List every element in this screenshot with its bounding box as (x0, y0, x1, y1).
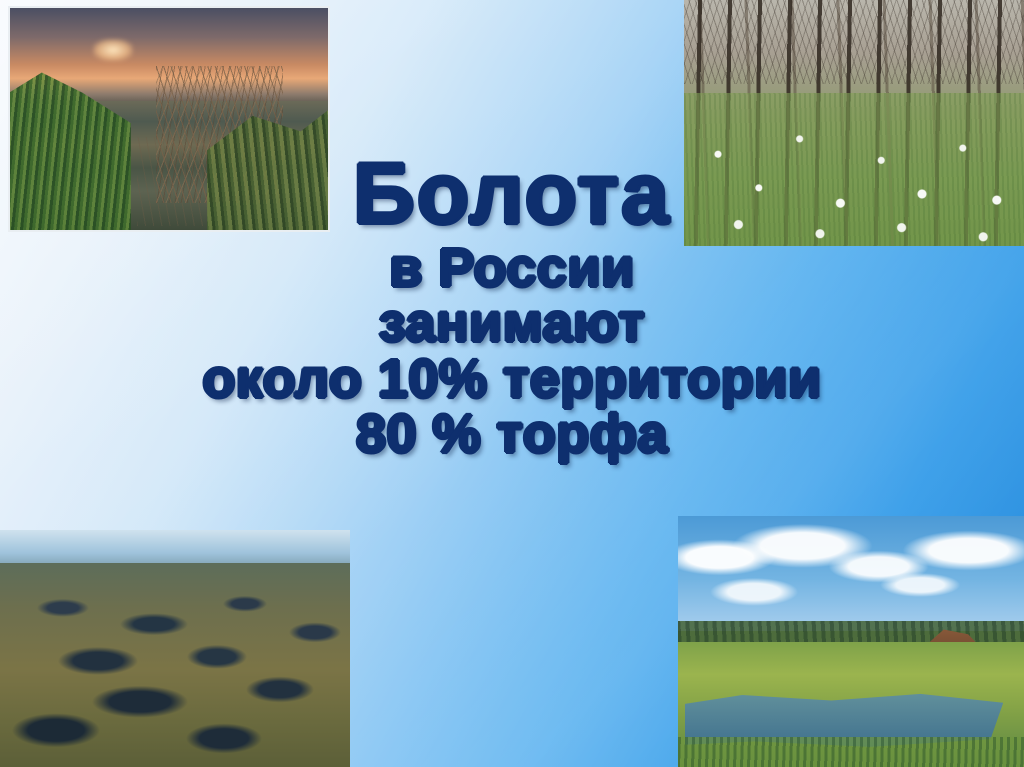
title-line-3: занимают (0, 296, 1024, 352)
title-line-4: около 10% территории (0, 352, 1024, 408)
foreground-grass (678, 737, 1024, 767)
image-tundra-bog (0, 530, 350, 767)
title-line-1: Болота (0, 150, 1024, 239)
sun-glow (93, 39, 133, 61)
title-line-2: в России (0, 241, 1024, 297)
title-line-5: 80 % торфа (0, 407, 1024, 463)
cumulus-clouds (678, 516, 1024, 631)
slide-title: Болота в России занимают около 10% терри… (0, 150, 1024, 463)
bare-branches (684, 0, 1024, 84)
bog-lakes (0, 563, 350, 767)
presentation-slide: Болота в России занимают около 10% терри… (0, 0, 1024, 767)
image-meadow-pond (678, 516, 1024, 767)
